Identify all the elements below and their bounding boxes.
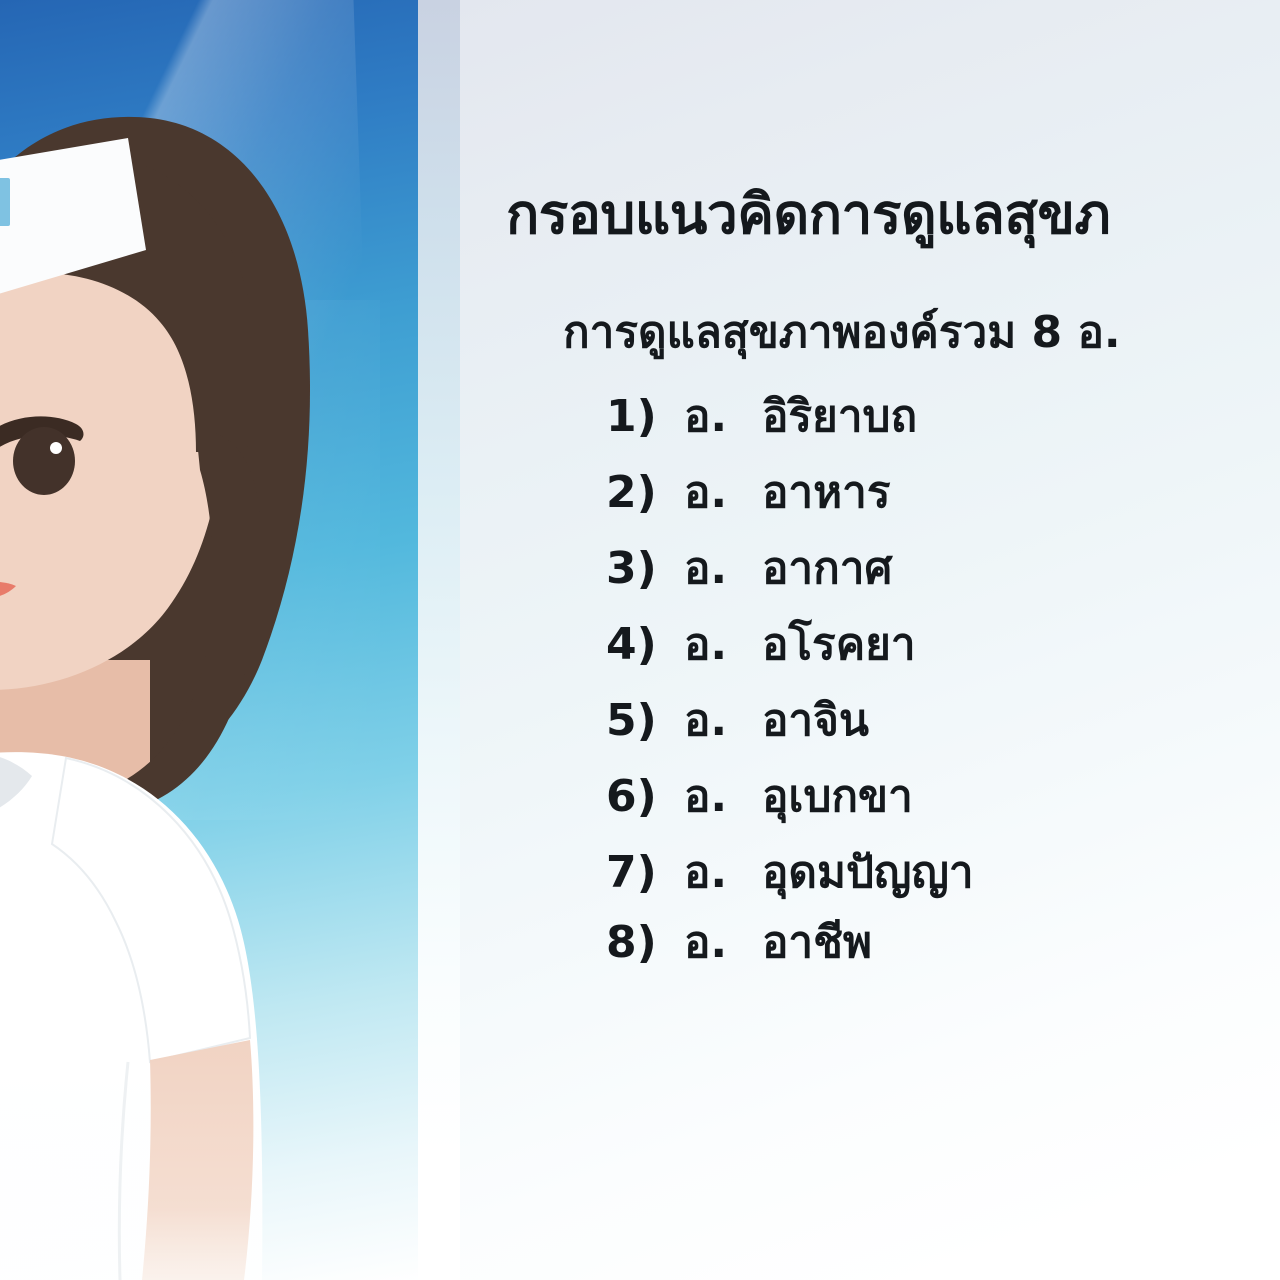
list-item-label: อุดมปัญญา (762, 837, 974, 907)
list-item-label: อาหาร (762, 457, 890, 527)
list-item-number: 5) (606, 695, 684, 746)
list-item-prefix: อ. (684, 685, 762, 755)
illustration-panel (0, 0, 432, 1280)
list-item-prefix: อ. (684, 837, 762, 907)
cap-badge-icon (0, 178, 10, 226)
list-item-label: อุเบกขา (762, 761, 913, 831)
list-item-label: อโรคยา (762, 609, 916, 679)
list-item-number: 2) (606, 467, 684, 518)
list-item: 6) อ. อุเบกขา (606, 761, 1246, 837)
list-item-prefix: อ. (684, 907, 762, 977)
list-item: 1) อ. อิริยาบถ (606, 381, 1246, 457)
list-item-number: 8) (606, 917, 684, 968)
list-item-number: 6) (606, 771, 684, 822)
eye-highlight (50, 442, 62, 454)
list-item-number: 3) (606, 543, 684, 594)
list-item-number: 7) (606, 847, 684, 898)
slide-title: กรอบแนวคิดการดูแลสุขภ (506, 186, 1280, 244)
list-item: 3) อ. อากาศ (606, 533, 1246, 609)
panel-divider (418, 0, 466, 1280)
list-item: 5) อ. อาจิน (606, 685, 1246, 761)
list-item-prefix: อ. (684, 381, 762, 451)
slide-canvas: กรอบแนวคิดการดูแลสุขภ การดูแลสุขภาพองค์ร… (0, 0, 1280, 1280)
arm-shape (142, 1040, 253, 1280)
nurse-illustration (0, 0, 432, 1280)
list-item-label: อาจิน (762, 685, 869, 755)
list-item-label: อาชีพ (762, 907, 872, 977)
list-item: 2) อ. อาหาร (606, 457, 1246, 533)
eye-shape (13, 427, 75, 495)
list-item-prefix: อ. (684, 457, 762, 527)
list-item: 4) อ. อโรคยา (606, 609, 1246, 685)
holistic-care-list: 1) อ. อิริยาบถ 2) อ. อาหาร 3) อ. อากาศ 4… (606, 381, 1246, 977)
content-panel: กรอบแนวคิดการดูแลสุขภ การดูแลสุขภาพองค์ร… (460, 0, 1280, 1280)
list-item-number: 4) (606, 619, 684, 670)
list-item-label: อิริยาบถ (762, 381, 917, 451)
list-item-label: อากาศ (762, 533, 892, 603)
list-item-prefix: อ. (684, 609, 762, 679)
list-item-prefix: อ. (684, 761, 762, 831)
list-item: 8) อ. อาชีพ (606, 907, 1246, 977)
slide-subtitle: การดูแลสุขภาพองค์รวม 8 อ. (563, 297, 1121, 367)
list-item-number: 1) (606, 391, 684, 442)
list-item: 7) อ. อุดมปัญญา (606, 837, 1246, 907)
list-item-prefix: อ. (684, 533, 762, 603)
